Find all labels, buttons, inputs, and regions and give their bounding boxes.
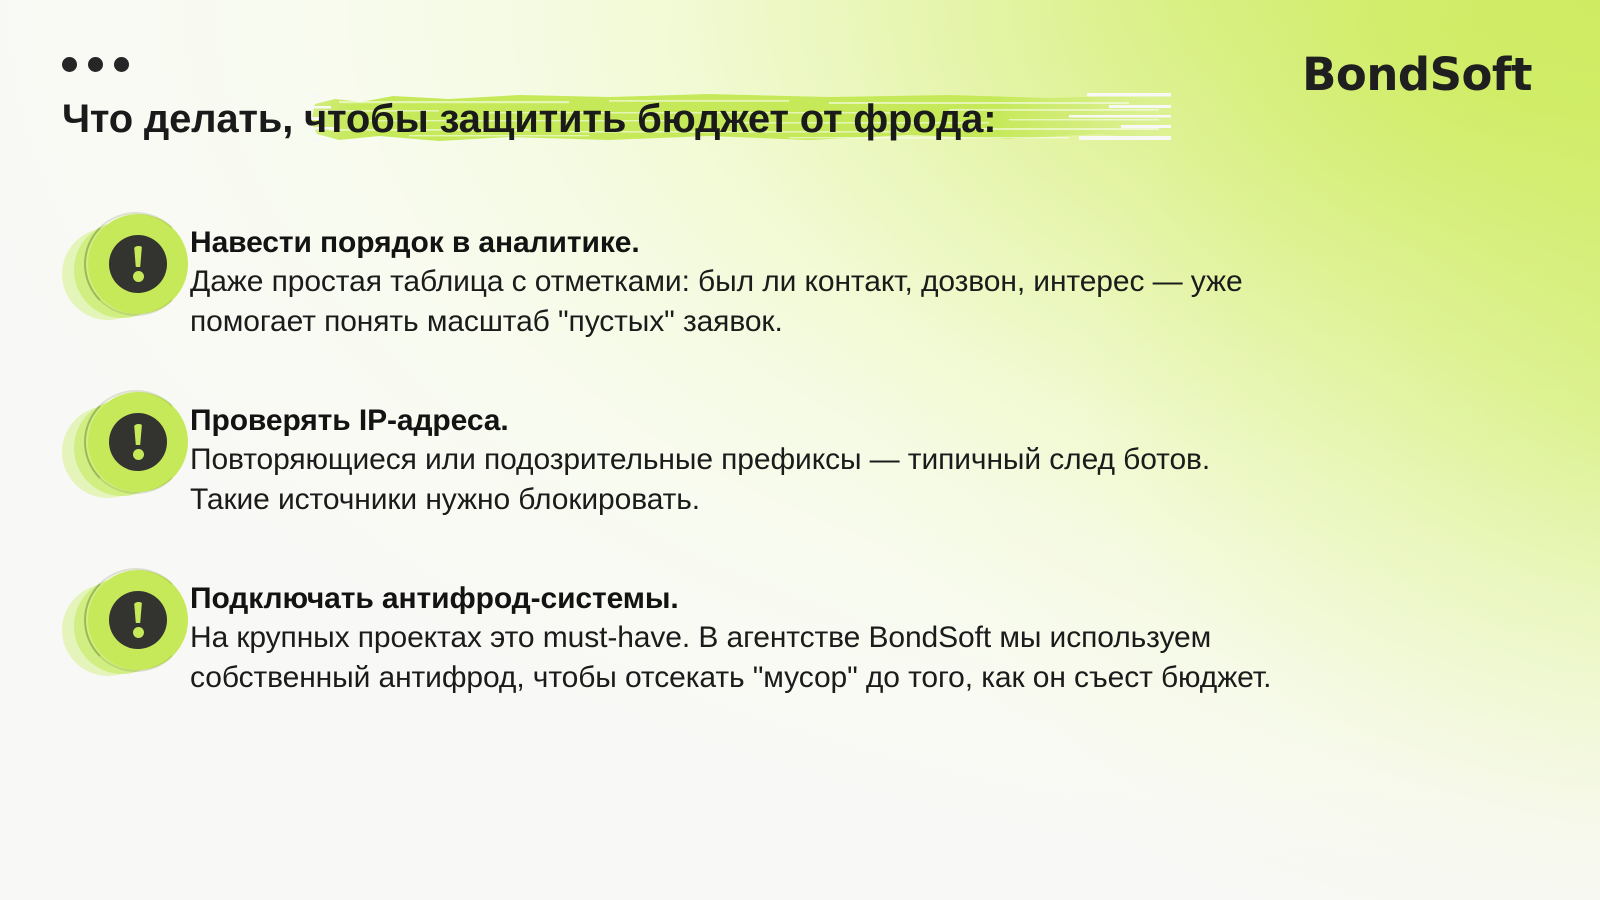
- list-item-title: Навести порядок в аналитике.: [190, 224, 1280, 262]
- list-item-body: Навести порядок в аналитике. Даже проста…: [190, 212, 1280, 342]
- badge-core-circle: [109, 413, 167, 471]
- list-item-title: Подключать антифрод-системы.: [190, 580, 1280, 618]
- page-title: Что делать, чтобы защитить бюджет от фро…: [62, 96, 1182, 142]
- list-item-description: Повторяющиеся или подозрительные префикс…: [190, 440, 1280, 520]
- exclamation-mark-icon: [132, 246, 145, 282]
- decorative-dots: [62, 57, 129, 72]
- advice-list: Навести порядок в аналитике. Даже проста…: [62, 212, 1362, 698]
- list-item: Проверять IP-адреса. Повторяющиеся или п…: [62, 390, 1362, 520]
- list-item-description: Даже простая таблица с отметками: был ли…: [190, 262, 1280, 342]
- list-item: Навести порядок в аналитике. Даже проста…: [62, 212, 1362, 342]
- list-item-body: Подключать антифрод-системы. На крупных …: [190, 568, 1280, 698]
- dot-icon-3: [114, 57, 129, 72]
- exclamation-badge-icon: [62, 392, 190, 502]
- exclamation-mark-icon: [132, 602, 145, 638]
- dot-icon-2: [88, 57, 103, 72]
- exclamation-badge-icon: [62, 214, 190, 324]
- exclamation-badge-icon: [62, 570, 190, 680]
- exclamation-mark-icon: [132, 424, 145, 460]
- slide-canvas: BondSoft: [0, 0, 1600, 900]
- list-item-body: Проверять IP-адреса. Повторяющиеся или п…: [190, 390, 1280, 520]
- page-title-wrapper: Что делать, чтобы защитить бюджет от фро…: [62, 96, 1182, 148]
- brand-logo: BondSoft: [1302, 52, 1532, 97]
- list-item-title: Проверять IP-адреса.: [190, 402, 1280, 440]
- dot-icon-1: [62, 57, 77, 72]
- badge-core-circle: [109, 591, 167, 649]
- list-item-description: На крупных проектах это must-have. В аге…: [190, 618, 1280, 698]
- badge-core-circle: [109, 235, 167, 293]
- list-item: Подключать антифрод-системы. На крупных …: [62, 568, 1362, 698]
